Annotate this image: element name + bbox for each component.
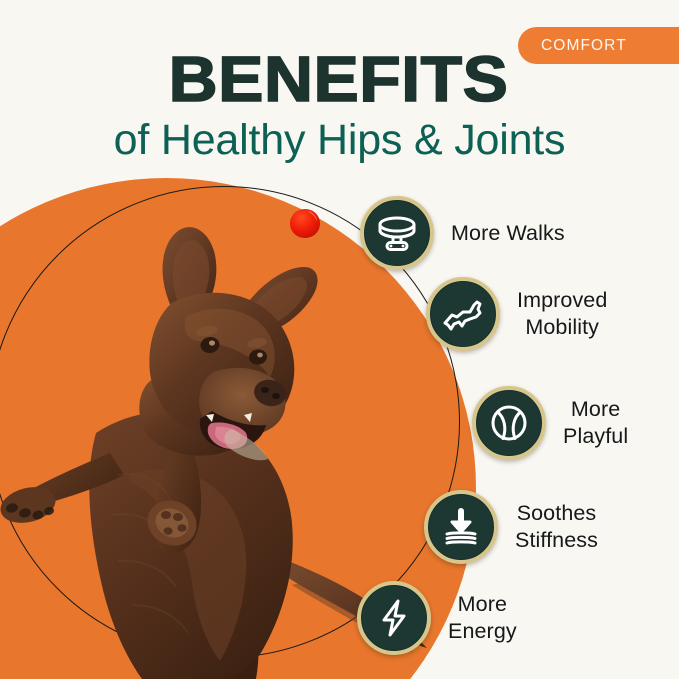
benefit-label: More Playful bbox=[563, 396, 628, 450]
benefit-item-more-energy[interactable]: More Energy bbox=[357, 581, 517, 655]
running-dog-icon bbox=[426, 277, 500, 351]
dog-collar-icon bbox=[360, 196, 434, 270]
benefit-label: More Energy bbox=[448, 591, 517, 645]
lightning-bolt-icon bbox=[357, 581, 431, 655]
comfort-badge-label: COMFORT bbox=[541, 37, 627, 55]
page-subtitle: of Healthy Hips & Joints bbox=[0, 114, 679, 166]
promo-graphic: COMFORT BENEFITS of Healthy Hips & Joint… bbox=[0, 0, 679, 679]
benefit-item-improved-mobility[interactable]: Improved Mobility bbox=[426, 277, 607, 351]
benefit-label: Improved Mobility bbox=[517, 287, 607, 341]
comfort-badge: COMFORT bbox=[518, 27, 679, 64]
title-block: BENEFITS of Healthy Hips & Joints bbox=[0, 46, 679, 166]
benefit-label: Soothes Stiffness bbox=[515, 500, 598, 554]
benefit-item-soothes-stiffness[interactable]: Soothes Stiffness bbox=[424, 490, 598, 564]
benefit-item-more-walks[interactable]: More Walks bbox=[360, 196, 565, 270]
cushion-arrow-icon bbox=[424, 490, 498, 564]
benefit-label: More Walks bbox=[451, 220, 565, 247]
tennis-ball-icon bbox=[472, 386, 546, 460]
red-ball-icon bbox=[289, 208, 321, 239]
benefit-item-more-playful[interactable]: More Playful bbox=[472, 386, 628, 460]
